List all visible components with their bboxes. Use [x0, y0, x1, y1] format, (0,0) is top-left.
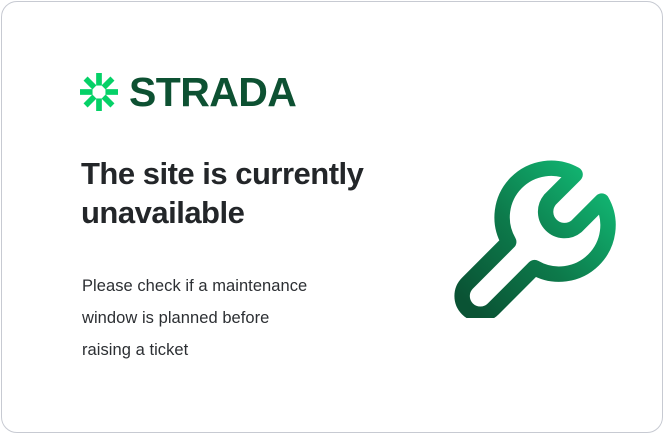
status-page-card: STRADA The site is currently unavailable… — [1, 1, 663, 433]
page-title: The site is currently unavailable — [81, 154, 421, 232]
brand-lockup: STRADA — [80, 70, 296, 114]
brand-wordmark: STRADA — [129, 72, 296, 113]
wrench-icon — [454, 150, 622, 318]
description-line: raising a ticket — [82, 334, 382, 366]
page-description: Please check if a maintenance window is … — [82, 270, 382, 366]
description-line: window is planned before — [82, 302, 382, 334]
description-line: Please check if a maintenance — [82, 270, 382, 302]
strada-starburst-icon — [80, 73, 118, 111]
